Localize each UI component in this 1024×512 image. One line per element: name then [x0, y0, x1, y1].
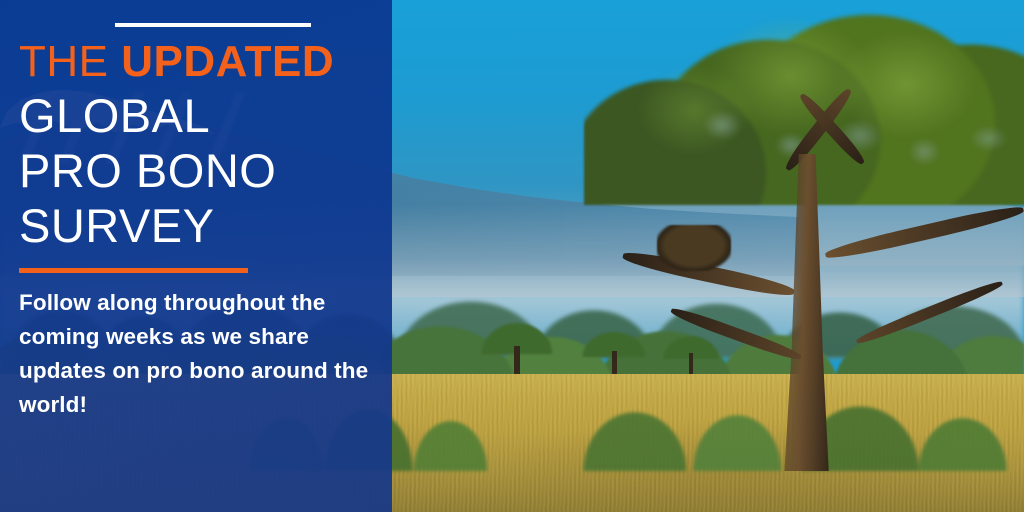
- headline: GLOBAL PRO BONO SURVEY: [19, 88, 276, 253]
- headline-line-3: SURVEY: [19, 198, 276, 253]
- kicker-text: THE UPDATED: [19, 39, 334, 85]
- acacia-branch: [669, 304, 803, 363]
- acacia-branch: [824, 203, 1024, 264]
- bird-nest: [657, 225, 731, 271]
- headline-line-2: PRO BONO: [19, 143, 276, 198]
- orange-divider: [19, 268, 248, 273]
- large-acacia-tree: [584, 0, 1024, 512]
- kicker-part-two: UPDATED: [121, 37, 334, 86]
- top-rule-divider: [115, 23, 311, 27]
- kicker-part-one: THE: [19, 37, 121, 86]
- pro-bono-survey-banner: THE UPDATED GLOBAL PRO BONO SURVEY Follo…: [0, 0, 1024, 512]
- blue-text-panel: THE UPDATED GLOBAL PRO BONO SURVEY Follo…: [0, 0, 392, 512]
- headline-line-1: GLOBAL: [19, 88, 276, 143]
- small-acacia-tree: [471, 312, 563, 379]
- subtext: Follow along throughout the coming weeks…: [19, 286, 371, 422]
- acacia-branch: [855, 278, 1004, 347]
